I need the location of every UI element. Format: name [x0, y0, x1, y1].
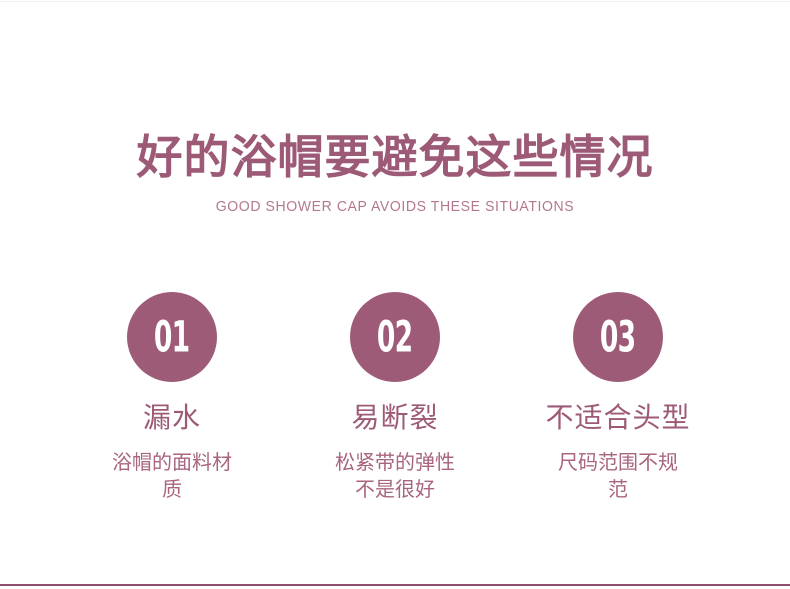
bottom-divider	[0, 584, 790, 586]
step-badge-01: 01	[127, 292, 217, 382]
item-description: 浴帽的面料材质	[104, 449, 240, 503]
list-item: 03 不适合头型 尺码范围不规范	[507, 292, 730, 503]
situations-list: 01 漏水 浴帽的面料材质 02 易断裂 松紧带的弹性不是很好 03 不适合头型…	[0, 292, 790, 503]
step-badge-02: 02	[350, 292, 440, 382]
step-badge-03: 03	[573, 292, 663, 382]
step-number: 02	[377, 315, 413, 358]
item-title: 易断裂	[351, 401, 438, 435]
promo-panel: 好的浴帽要避免这些情况 GOOD SHOWER CAP AVOIDS THESE…	[0, 0, 790, 589]
page-subtitle: GOOD SHOWER CAP AVOIDS THESE SITUATIONS	[12, 198, 778, 216]
list-item: 02 易断裂 松紧带的弹性不是很好	[284, 292, 507, 503]
step-number: 03	[600, 315, 636, 358]
top-divider	[0, 1, 790, 2]
item-description: 尺码范围不规范	[550, 449, 686, 503]
item-description: 松紧带的弹性不是很好	[327, 449, 463, 503]
item-title: 漏水	[143, 401, 201, 435]
list-item: 01 漏水 浴帽的面料材质	[61, 292, 284, 503]
item-title: 不适合头型	[545, 401, 690, 435]
header: 好的浴帽要避免这些情况 GOOD SHOWER CAP AVOIDS THESE…	[0, 130, 790, 216]
step-number: 01	[154, 315, 190, 358]
page-title: 好的浴帽要避免这些情况	[0, 130, 790, 184]
